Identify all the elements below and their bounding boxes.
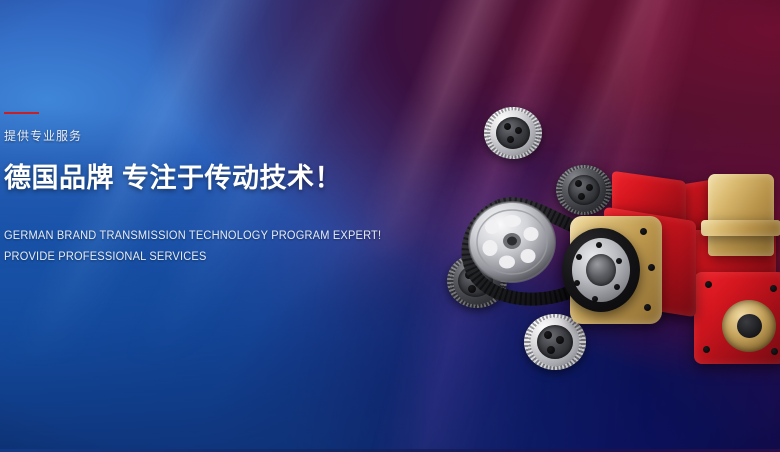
accent-rule: [4, 112, 39, 114]
flange-bolt: [614, 284, 620, 290]
flange-bolt: [771, 348, 778, 355]
banner-copy: 提供专业服务 德国品牌 专注于传动技术！ GERMAN BRAND TRANSM…: [4, 112, 434, 268]
pulley-bolt: [507, 136, 514, 143]
pulley-bolt: [547, 346, 555, 354]
housing-bolt: [640, 228, 647, 235]
gearbox-output-shaft: [737, 314, 762, 338]
flange-bolt: [576, 254, 582, 260]
pulley-bolt: [515, 127, 522, 134]
flange-bolt: [592, 296, 598, 302]
banner-subline-1: GERMAN BRAND TRANSMISSION TECHNOLOGY PRO…: [4, 226, 417, 247]
timing-pulley-silver-top: [484, 107, 542, 159]
banner-subline-2: PROVIDE PROFESSIONAL SERVICES: [4, 247, 417, 268]
right-angle-gearbox-front: [552, 176, 727, 341]
pulley-bolt: [504, 123, 511, 130]
hero-banner: 提供专业服务 德国品牌 专注于传动技术！ GERMAN BRAND TRANSM…: [0, 0, 780, 452]
housing-bolt: [644, 304, 651, 311]
flange-bolt: [574, 280, 580, 286]
banner-headline: 德国品牌 专注于传动技术！: [4, 164, 434, 192]
banner-kicker: 提供专业服务: [4, 130, 434, 142]
pulley-hub: [496, 117, 530, 149]
flange-bolt: [703, 346, 710, 353]
flange-bolt: [770, 285, 777, 292]
pulley-bolt: [544, 331, 552, 339]
flange-bolt: [596, 242, 602, 248]
gearbox-front-bore: [586, 254, 616, 286]
flange-bolt: [616, 258, 622, 264]
housing-bolt: [648, 264, 655, 271]
